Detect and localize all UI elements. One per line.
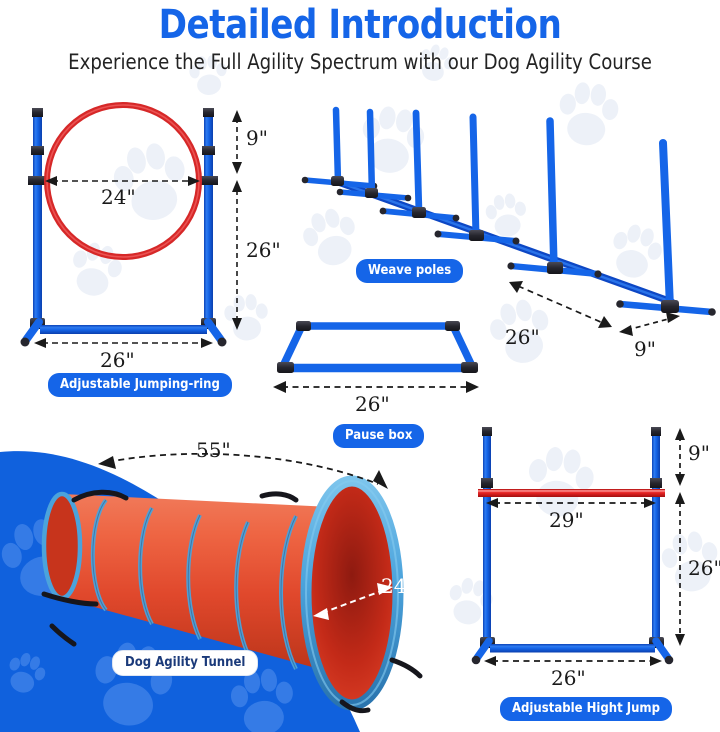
jump-upright-left — [483, 427, 491, 645]
label-high-jump: Adjustable Hight Jump — [500, 697, 672, 721]
infographic-canvas: Detailed Introduction Experience the Ful… — [0, 0, 720, 732]
dim-jump-base-width: 26" — [551, 666, 586, 690]
dimension-jump-bar-width — [486, 498, 656, 508]
dim-jump-bar-width: 29" — [549, 508, 584, 532]
dim-jump-top-height: 9" — [688, 441, 710, 465]
jump-upright-right — [652, 427, 660, 645]
dimension-jump-base-width — [484, 656, 662, 666]
jump-base-bar — [490, 644, 655, 653]
product-high-jump — [0, 0, 720, 732]
dim-jump-lower-height: 26" — [688, 556, 720, 580]
dimension-jump-heights — [675, 428, 685, 646]
